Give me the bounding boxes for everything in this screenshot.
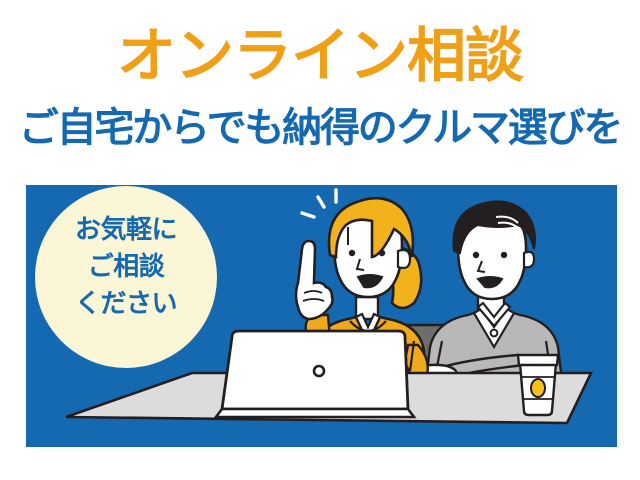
open-laptop[interactable] <box>216 331 414 417</box>
illustration-panel: お気軽に ご相談 ください <box>26 185 617 447</box>
man-ear <box>524 252 534 267</box>
man-right-eye <box>501 252 507 258</box>
laptop-base[interactable] <box>216 409 414 417</box>
cup-logo-icon <box>531 379 545 397</box>
woman-left-eye <box>349 250 355 256</box>
page-subtitle: ご自宅からでも納得のクルマ選びを <box>0 108 640 148</box>
man-shirt-button <box>491 330 498 337</box>
badge-circle <box>35 186 217 368</box>
woman-right-eye <box>379 250 385 256</box>
woman-ear <box>398 250 410 268</box>
man-left-eye <box>473 252 479 258</box>
laptop-logo-icon <box>314 366 324 376</box>
online-consultation-illustration <box>26 185 617 447</box>
banner-header: オンライン相談 ご自宅からでも納得のクルマ選びを <box>0 0 640 182</box>
cup-lid <box>518 355 558 365</box>
page-title: オンライン相談 <box>0 27 640 86</box>
takeaway-coffee-cup <box>518 355 558 415</box>
